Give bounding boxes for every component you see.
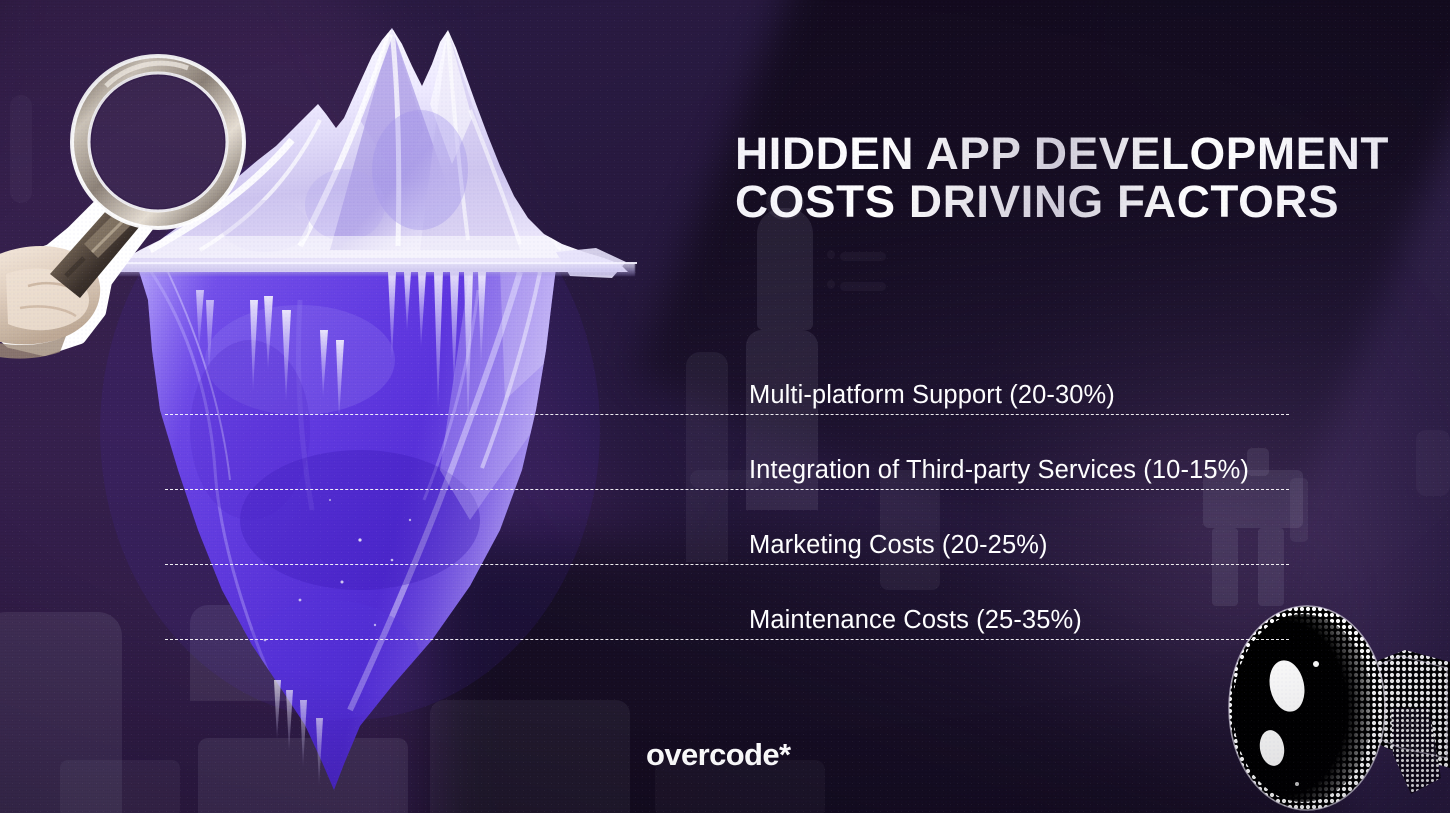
ghost-shape-dot-a bbox=[827, 250, 835, 259]
magnifier-lens bbox=[72, 56, 244, 228]
factor-list: Multi-platform Support (20-30%) Integrat… bbox=[165, 340, 1289, 640]
factor-label: Maintenance Costs (25-35%) bbox=[749, 605, 1082, 635]
brand-logo-star: * bbox=[779, 737, 790, 772]
factor-row-maintenance-costs: Maintenance Costs (25-35%) bbox=[165, 565, 1289, 640]
factor-divider bbox=[165, 639, 1289, 640]
factor-row-marketing-costs: Marketing Costs (20-25%) bbox=[165, 490, 1289, 565]
ghost-shape-far-right bbox=[1416, 430, 1450, 496]
brand-logo-word: overcode bbox=[646, 737, 779, 772]
page-title-line-2: COSTS DRIVING FACTORS bbox=[735, 178, 1408, 226]
page-title: HIDDEN APP DEVELOPMENT COSTS DRIVING FAC… bbox=[735, 130, 1395, 226]
magnifying-glass-icon bbox=[0, 36, 268, 371]
brand-logo: overcode* bbox=[646, 738, 791, 772]
factor-row-multi-platform-support: Multi-platform Support (20-30%) bbox=[165, 340, 1289, 415]
factor-label: Multi-platform Support (20-30%) bbox=[749, 380, 1115, 410]
factor-label: Integration of Third-party Services (10-… bbox=[749, 455, 1249, 485]
infographic-canvas: HIDDEN APP DEVELOPMENT COSTS DRIVING FAC… bbox=[0, 0, 1450, 813]
ghost-shape-dot-row-bottom bbox=[840, 282, 886, 291]
factor-label: Marketing Costs (20-25%) bbox=[749, 530, 1048, 560]
ghost-shape-dot-row-top bbox=[840, 252, 886, 261]
ghost-shape-robot-arm bbox=[1290, 478, 1308, 542]
ghost-shape-dot-b bbox=[827, 280, 835, 289]
page-title-line-1: HIDDEN APP DEVELOPMENT bbox=[735, 130, 1408, 178]
factor-row-third-party-integration: Integration of Third-party Services (10-… bbox=[165, 415, 1289, 490]
